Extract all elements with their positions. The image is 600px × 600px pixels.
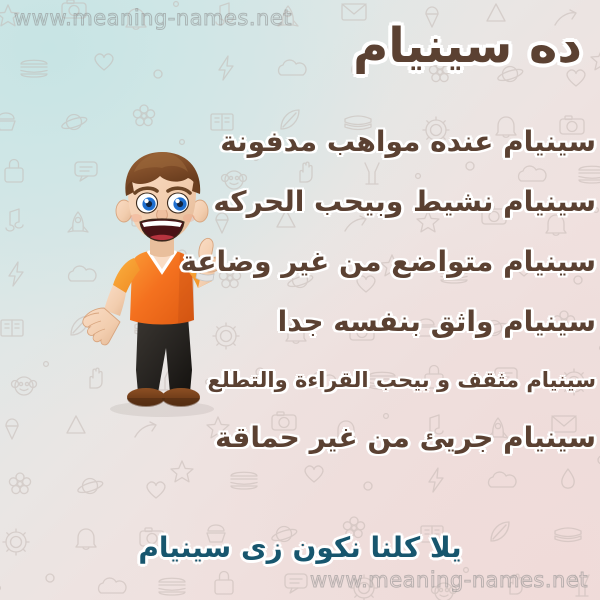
trait-line: سينيام واثق بنفسه جدا: [248, 292, 596, 352]
trait-line: سينيام جريئ من غير حماقة: [248, 408, 596, 468]
trait-line: سينيام نشيط وبيحب الحركه: [248, 172, 596, 232]
trait-line: سينيام عنده مواهب مدفونة: [248, 112, 596, 172]
trait-line: سينيام متواضع من غير وضاعة: [248, 232, 596, 292]
trait-lines: سينيام عنده مواهب مدفونة سينيام نشيط وبي…: [248, 112, 596, 468]
page-title: ده سينيام: [353, 16, 582, 76]
name-meaning-card: www.meaning-names.net www.meaning-names.…: [0, 0, 600, 600]
watermark-bottom: www.meaning-names.net: [310, 568, 588, 592]
trait-line: سينيام مثقف و بيحب القراءة والتطلع: [248, 352, 596, 408]
watermark-top: www.meaning-names.net: [14, 6, 292, 30]
footer-slogan: يلا كلنا نكون زى سينيام: [0, 528, 600, 568]
